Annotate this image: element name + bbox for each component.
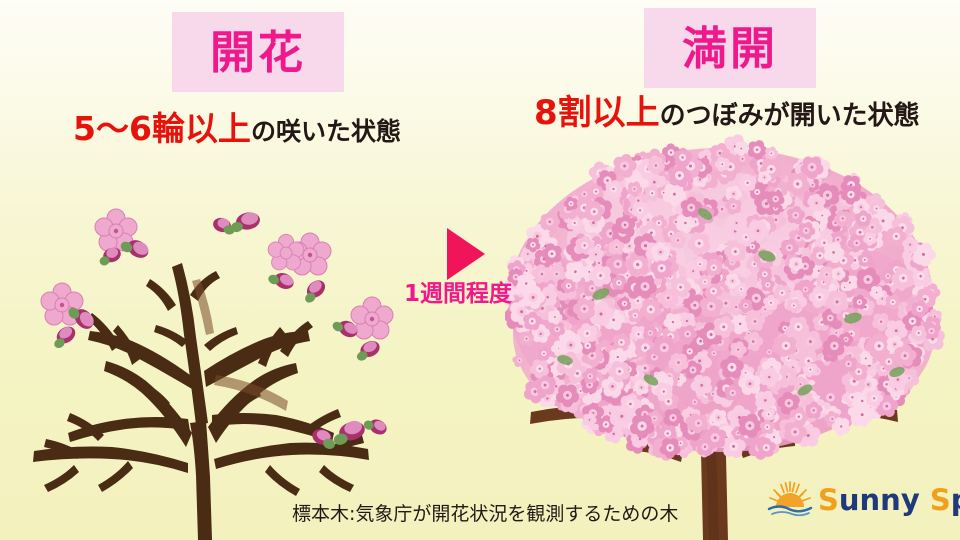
left-subtitle: 5〜6輪以上の咲いた状態 <box>73 112 401 145</box>
logo-second-rest: pot <box>951 483 960 517</box>
logo-second-letter: S <box>930 483 951 517</box>
tree-illustration-full-bloom <box>505 122 945 540</box>
slide-canvas: 開花 満開 5〜6輪以上の咲いた状態 8割以上のつぼみが開いた状態 1週間程度 … <box>0 0 960 540</box>
sunny-spot-logo: Sunny Spot <box>766 480 960 520</box>
play-triangle-right-icon <box>447 228 485 280</box>
right-title-text: 満開 <box>682 26 778 71</box>
arrow-caption: 1週間程度 <box>404 283 512 306</box>
footer-note: 標本木:気象庁が開花状況を観測するための木 <box>292 505 678 524</box>
sunrise-over-water-icon <box>766 480 814 520</box>
right-subtitle-rest: のつぼみが開いた状態 <box>660 101 920 131</box>
tree-illustration-first-bloom <box>20 175 410 540</box>
right-subtitle: 8割以上のつぼみが開いた状態 <box>534 96 920 130</box>
left-subtitle-highlight: 5〜6輪以上 <box>73 109 251 148</box>
right-title-box: 満開 <box>644 8 816 88</box>
left-subtitle-rest: の咲いた状態 <box>251 117 401 146</box>
logo-wordmark: Sunny Spot <box>818 486 960 515</box>
right-subtitle-highlight: 8割以上 <box>534 93 660 133</box>
left-title-box: 開花 <box>172 12 344 92</box>
logo-first-rest: unny <box>839 483 920 517</box>
logo-first-letter: S <box>818 483 839 517</box>
left-title-text: 開花 <box>210 30 306 75</box>
